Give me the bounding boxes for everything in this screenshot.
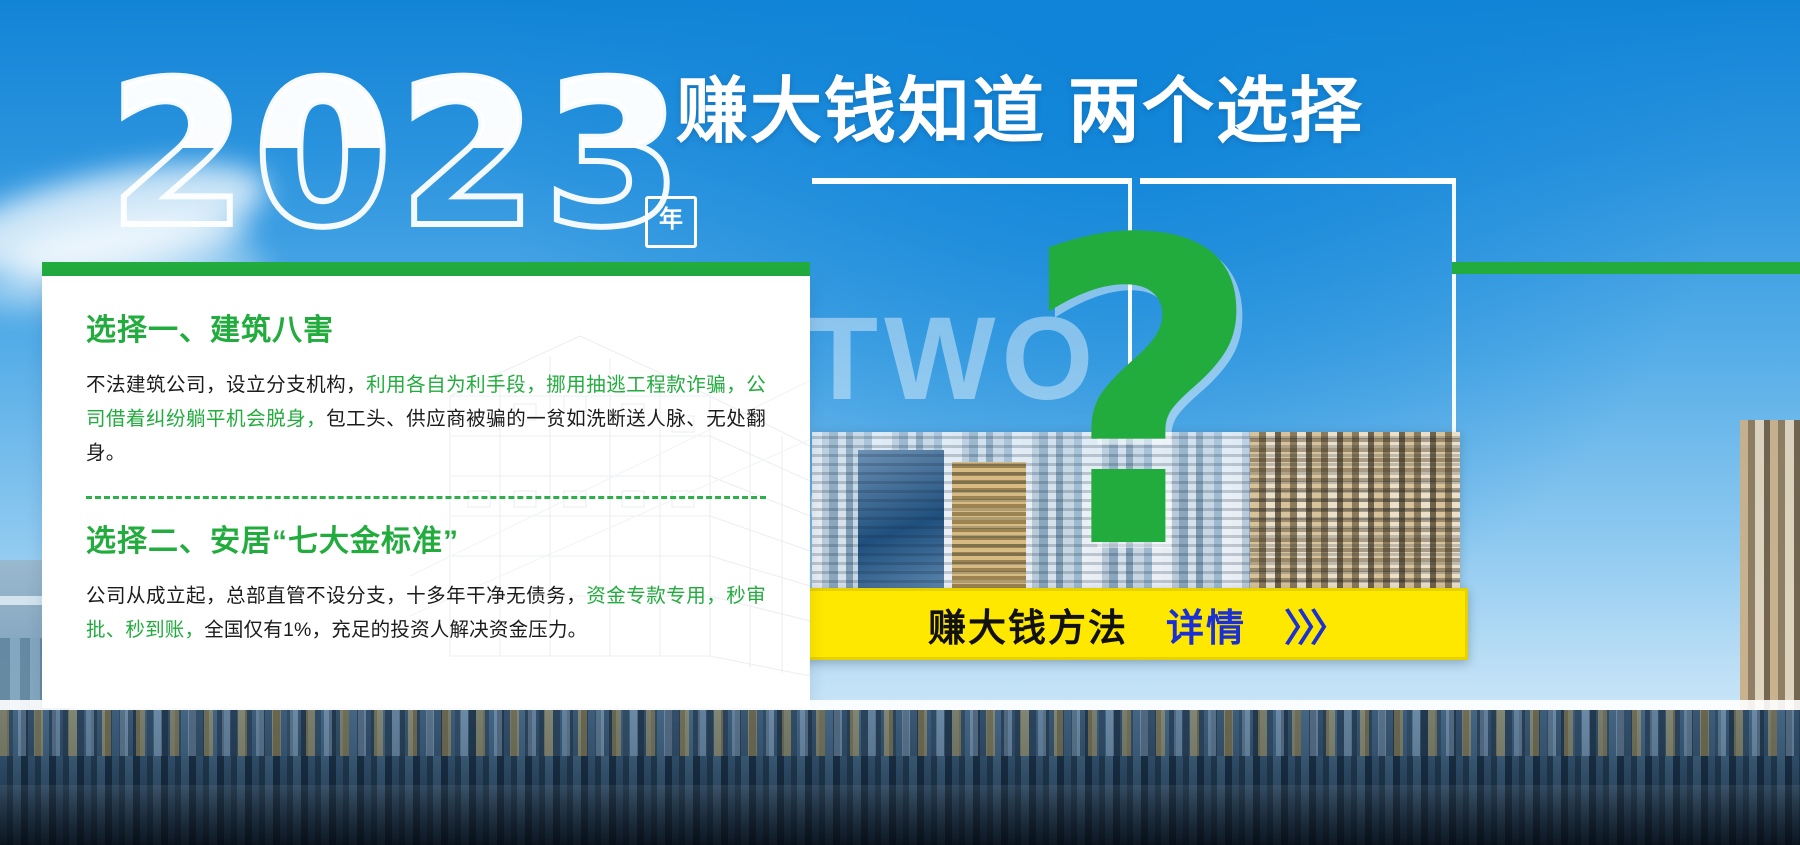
- chevron-right-icon: 〉〉〉: [1284, 597, 1342, 652]
- question-mark-icon: ?: [1020, 188, 1264, 608]
- cta-button[interactable]: 赚大钱方法 详情 〉〉〉: [802, 588, 1468, 660]
- text-run: 公司从成立起，总部直管不设分支，十多年干净无债务，: [86, 585, 586, 607]
- section-two-body: 公司从成立起，总部直管不设分支，十多年干净无债务，资金专款专用，秒审批、秒到账，…: [86, 579, 766, 647]
- poster-stage: 2023 2023 年 赚大钱知道 两个选择 TWO CHOICES ? 赚大钱…: [0, 0, 1800, 845]
- content-card: 选择一、建筑八害 不法建筑公司，设立分支机构，利用各自为利手段，挪用抽逃工程款诈…: [42, 276, 810, 708]
- text-run: 全国仅有1%，充足的投资人解决资金压力。: [204, 619, 587, 641]
- page-title: 赚大钱知道 两个选择: [676, 76, 1364, 148]
- bottom-city-strip: [0, 710, 1800, 845]
- green-accent-bar: [1452, 262, 1800, 274]
- section-two: 选择二、安居“七大金标准” 公司从成立起，总部直管不设分支，十多年干净无债务，资…: [86, 527, 766, 647]
- right-city-photo: [1740, 420, 1800, 710]
- cta-action-label: 详情: [1166, 597, 1246, 652]
- card-inner: 选择一、建筑八害 不法建筑公司，设立分支机构，利用各自为利手段，挪用抽逃工程款诈…: [42, 276, 810, 647]
- section-one-body: 不法建筑公司，设立分支机构，利用各自为利手段，挪用抽逃工程款诈骗，公司借着纠纷躺…: [86, 368, 766, 470]
- cta-label: 赚大钱方法: [928, 597, 1128, 652]
- water-reflection: [0, 785, 1800, 845]
- section-divider: [86, 496, 766, 499]
- text-run: 不法建筑公司，设立分支机构，: [86, 374, 366, 396]
- year-unit-badge: 年: [645, 196, 697, 248]
- section-two-heading: 选择二、安居“七大金标准”: [86, 527, 766, 557]
- section-one-heading: 选择一、建筑八害: [86, 316, 766, 346]
- card-top-accent: [42, 262, 810, 276]
